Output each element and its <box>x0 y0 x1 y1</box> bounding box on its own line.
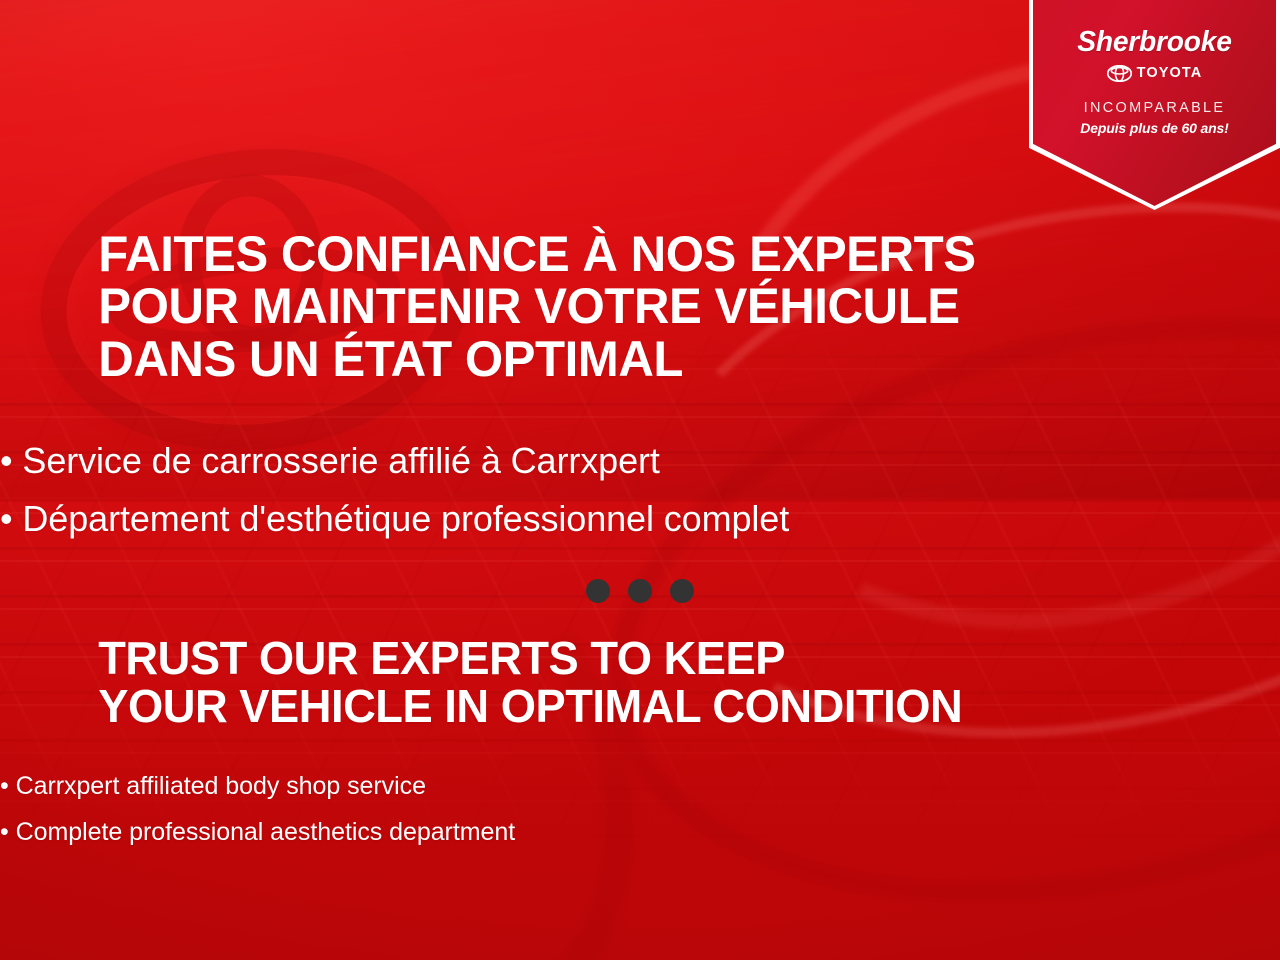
bullet-list-english: • Carrxpert affiliated body shop service… <box>0 764 1280 855</box>
headline-french-line-1: FAITES CONFIANCE À NOS EXPERTS <box>98 228 1182 280</box>
list-item: • Carrxpert affiliated body shop service <box>0 764 1280 810</box>
badge-tagline: INCOMPARABLE <box>1033 101 1276 116</box>
divider-dot <box>670 579 694 603</box>
divider-dot <box>586 579 610 603</box>
bullet-list-french: • Service de carrosserie affilié à Carrx… <box>0 432 1280 549</box>
dot-divider <box>0 579 1280 603</box>
toyota-emblem-icon <box>1107 65 1132 82</box>
headline-english-line-2: YOUR VEHICLE IN OPTIMAL CONDITION <box>98 682 1182 730</box>
headline-english: TRUST OUR EXPERTS TO KEEP YOUR VEHICLE I… <box>98 634 1182 730</box>
dealer-name: Sherbrooke <box>1037 28 1273 57</box>
badge-subtagline: Depuis plus de 60 ans! <box>1033 121 1276 135</box>
headline-english-line-1: TRUST OUR EXPERTS TO KEEP <box>98 634 1182 682</box>
divider-dot <box>628 579 652 603</box>
toyota-wordmark: TOYOTA <box>1137 66 1203 81</box>
list-item: • Complete professional aesthetics depar… <box>0 810 1280 856</box>
service-promo-banner: Sherbrooke TOYOTA INCOMPARABLE Depuis pl… <box>0 0 1280 960</box>
headline-french-line-2: POUR MAINTENIR VOTRE VÉHICULE <box>98 280 1182 332</box>
headline-french: FAITES CONFIANCE À NOS EXPERTS POUR MAIN… <box>98 228 1182 385</box>
toyota-brand-lockup: TOYOTA <box>1033 65 1276 82</box>
headline-french-line-3: DANS UN ÉTAT OPTIMAL <box>98 333 1182 385</box>
list-item: • Service de carrosserie affilié à Carrx… <box>0 432 1280 490</box>
list-item: • Département d'esthétique professionnel… <box>0 490 1280 548</box>
